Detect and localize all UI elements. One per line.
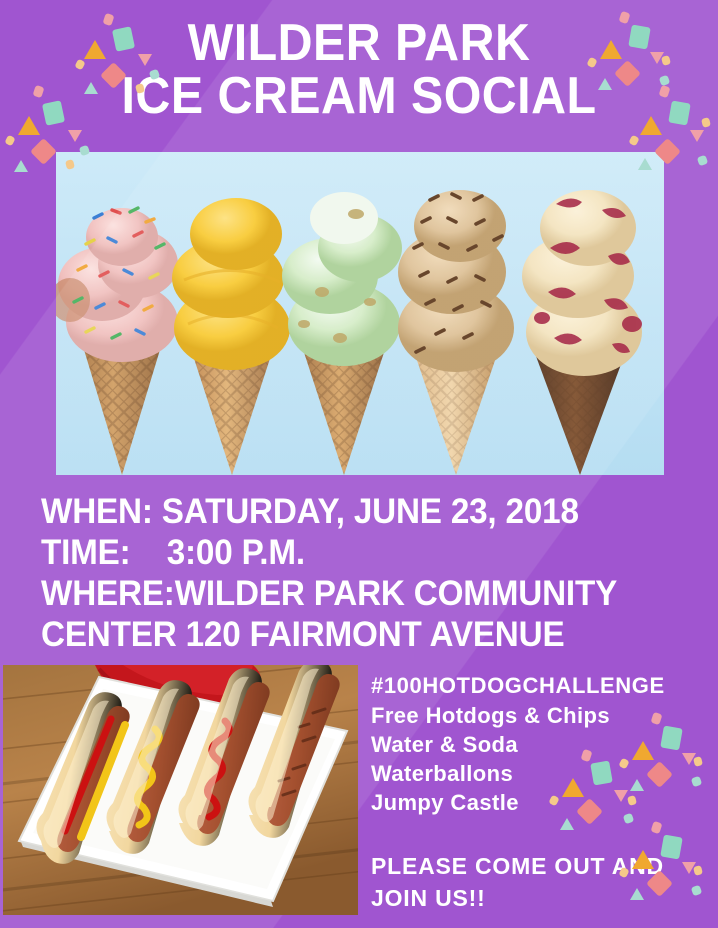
confetti-chip-teal	[691, 885, 703, 897]
detail-where-line-2: CENTER 120 FAIRMONT AVENUE	[41, 615, 668, 656]
confetti-cluster-top-left-inner	[62, 14, 182, 118]
confetti-chip-teal	[149, 69, 161, 81]
confetti-square-mint	[660, 835, 683, 860]
confetti-chip-teal	[79, 145, 91, 157]
confetti-diamond-salmon	[30, 138, 57, 165]
confetti-chip-peach-2	[627, 795, 637, 806]
confetti-chip-peach	[548, 795, 559, 807]
confetti-chip-teal	[691, 776, 703, 788]
ice-cream-illustration	[56, 152, 664, 475]
confetti-triangle-orange	[84, 40, 106, 59]
confetti-chip-peach-2	[693, 756, 703, 767]
confetti-chip-peach	[4, 135, 15, 147]
confetti-triangle-teal	[630, 888, 644, 900]
confetti-triangle-pink	[690, 130, 704, 142]
confetti-triangle-orange	[562, 778, 584, 797]
confetti-cluster-top-right-outer	[630, 74, 718, 178]
confetti-square-mint	[660, 726, 683, 751]
confetti-chip-teal	[623, 813, 635, 825]
hotdogs-platter-photo	[3, 665, 358, 915]
event-details: WHEN: SATURDAY, JUNE 23, 2018 TIME: 3:00…	[41, 492, 701, 656]
confetti-triangle-orange	[18, 116, 40, 135]
confetti-chip-peach-2	[661, 55, 671, 66]
confetti-square-mint	[668, 101, 691, 126]
confetti-chip-peach-2	[65, 159, 75, 170]
confetti-triangle-pink	[614, 790, 628, 802]
confetti-diamond-salmon	[654, 138, 681, 165]
flyer-page: WILDER PARK ICE CREAM SOCIAL	[0, 0, 718, 928]
ice-cream-cones-photo	[56, 152, 664, 475]
confetti-square-mint	[590, 761, 613, 786]
confetti-chip-pink	[619, 11, 631, 24]
detail-where-line-1: WHERE:WILDER PARK COMMUNITY	[41, 574, 668, 615]
confetti-triangle-teal	[638, 158, 652, 170]
confetti-chip-pink	[33, 85, 45, 98]
confetti-chip-peach-2	[135, 83, 145, 94]
confetti-diamond-salmon	[100, 62, 127, 89]
confetti-diamond-salmon	[576, 798, 603, 825]
confetti-cluster-bottom-right-lower	[618, 824, 718, 928]
confetti-chip-pink	[581, 749, 593, 762]
confetti-triangle-teal	[598, 78, 612, 90]
confetti-chip-pink	[651, 821, 663, 834]
confetti-chip-peach	[586, 57, 597, 69]
confetti-chip-pink	[103, 13, 115, 26]
confetti-chip-peach-2	[701, 117, 711, 128]
detail-time: TIME: 3:00 P.M.	[41, 533, 668, 574]
confetti-chip-pink	[651, 712, 663, 725]
confetti-chip-peach-2	[693, 865, 703, 876]
confetti-chip-teal	[697, 155, 709, 167]
confetti-square-mint	[112, 26, 135, 51]
detail-when: WHEN: SATURDAY, JUNE 23, 2018	[41, 492, 668, 533]
confetti-triangle-teal	[84, 82, 98, 94]
confetti-triangle-teal	[14, 160, 28, 172]
confetti-triangle-orange	[600, 40, 622, 59]
confetti-diamond-salmon	[646, 870, 673, 897]
confetti-chip-peach	[618, 867, 629, 879]
confetti-chip-pink	[659, 85, 671, 98]
hashtag-challenge: #100HOTDOGCHALLENGE	[371, 672, 711, 701]
confetti-triangle-pink	[138, 54, 152, 66]
confetti-triangle-orange	[632, 850, 654, 869]
confetti-triangle-orange	[640, 116, 662, 135]
hotdogs-illustration	[3, 665, 358, 915]
confetti-chip-peach	[74, 59, 85, 71]
confetti-triangle-teal	[560, 818, 574, 830]
confetti-triangle-pink	[68, 130, 82, 142]
confetti-chip-peach	[628, 135, 639, 147]
confetti-square-mint	[628, 25, 651, 50]
